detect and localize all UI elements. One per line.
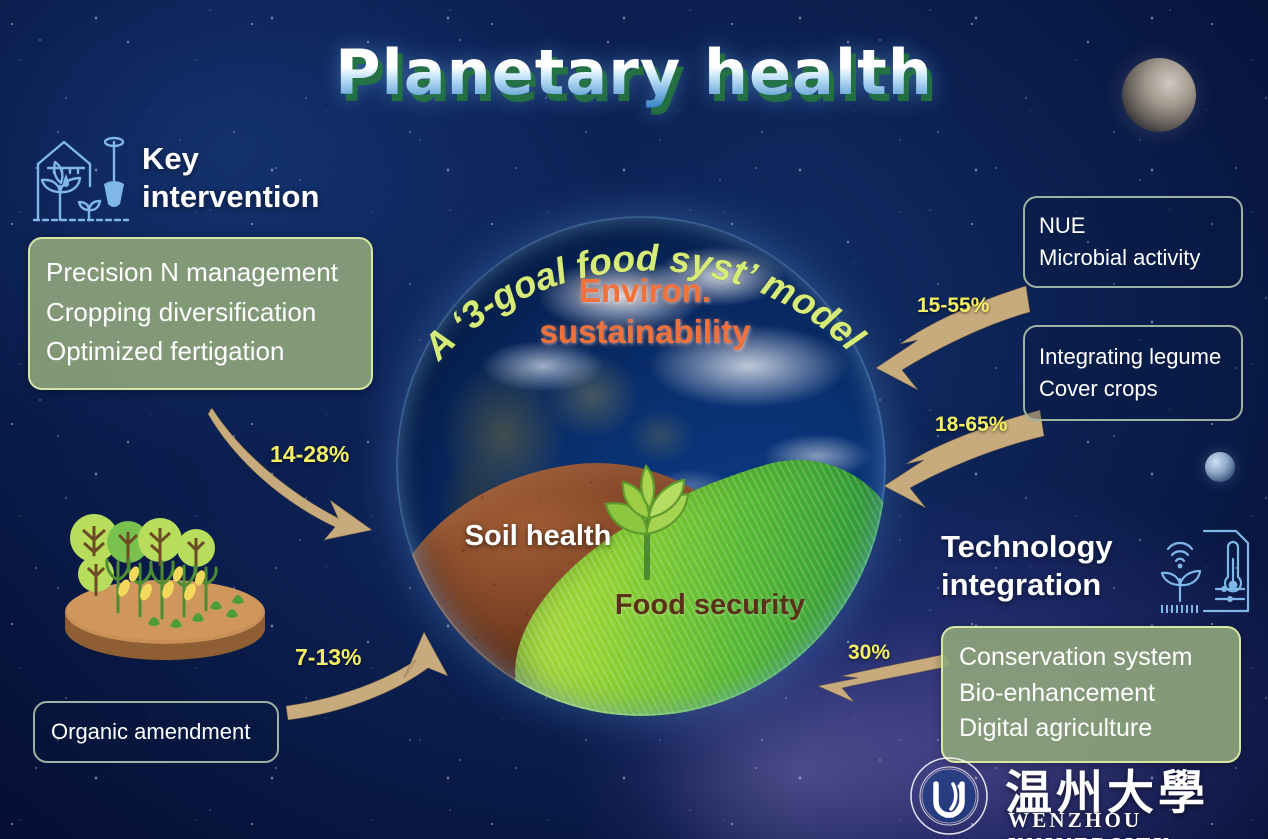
percent-label-left-top: 14-28%: [270, 441, 349, 468]
small-planet-icon: [1205, 452, 1235, 482]
legume-box: Integrating legume Cover crops: [1023, 325, 1243, 421]
environment-label-line1: Environ.: [515, 270, 775, 311]
infographic-canvas: Planetary health A ‘3-goal: [0, 0, 1268, 839]
tech-item-3: Digital agriculture: [959, 711, 1223, 747]
agroforestry-plot-illustration: [50, 500, 280, 660]
legume-item-2: Cover crops: [1039, 373, 1227, 405]
technology-heading-line2: integration: [941, 566, 1141, 604]
nue-box: NUE Microbial activity: [1023, 196, 1243, 288]
soil-health-label: Soil health: [438, 520, 638, 553]
university-logo: 1933 温州大學 WENZHOU UNIVERSITY: [905, 756, 1257, 836]
key-intervention-heading-line2: intervention: [142, 178, 362, 216]
svg-text:1933: 1933: [944, 815, 955, 820]
technology-box: Conservation system Bio-enhancement Digi…: [941, 626, 1241, 763]
environment-label-line2: sustainability: [515, 311, 775, 352]
intervention-item-1: Precision N management: [46, 253, 355, 293]
nue-item-1: NUE: [1039, 210, 1227, 242]
nue-item-2: Microbial activity: [1039, 242, 1227, 274]
percent-label-left-bottom: 7-13%: [295, 644, 361, 671]
technology-heading-line1: Technology: [941, 528, 1141, 566]
legume-item-1: Integrating legume: [1039, 341, 1227, 373]
tech-item-2: Bio-enhancement: [959, 676, 1223, 712]
wenzhou-university-seal-icon: 1933: [905, 756, 997, 836]
technology-integration-heading: Technology integration: [941, 528, 1141, 604]
percent-label-right-bottom: 30%: [848, 641, 890, 665]
key-intervention-heading: Key intervention: [142, 140, 362, 216]
percent-label-right-mid: 18-65%: [935, 413, 1007, 437]
organic-amendment-label: Organic amendment: [51, 719, 261, 745]
organic-amendment-box: Organic amendment: [33, 701, 279, 763]
tech-item-1: Conservation system: [959, 640, 1223, 676]
greenhouse-irrigation-icon: [30, 134, 132, 230]
percent-label-right-top: 15-55%: [917, 294, 989, 318]
key-intervention-heading-line1: Key: [142, 140, 362, 178]
intervention-item-2: Cropping diversification: [46, 293, 355, 333]
page-title: Planetary health: [0, 36, 1268, 109]
environment-sustainability-label: Environ. sustainability: [515, 270, 775, 353]
smart-agriculture-sensor-icon: [1152, 521, 1252, 617]
intervention-item-3: Optimized fertigation: [46, 332, 355, 372]
university-name-english: WENZHOU UNIVERSITY: [1008, 808, 1257, 839]
key-intervention-box: Precision N management Cropping diversif…: [28, 237, 373, 390]
food-security-label: Food security: [600, 589, 820, 622]
